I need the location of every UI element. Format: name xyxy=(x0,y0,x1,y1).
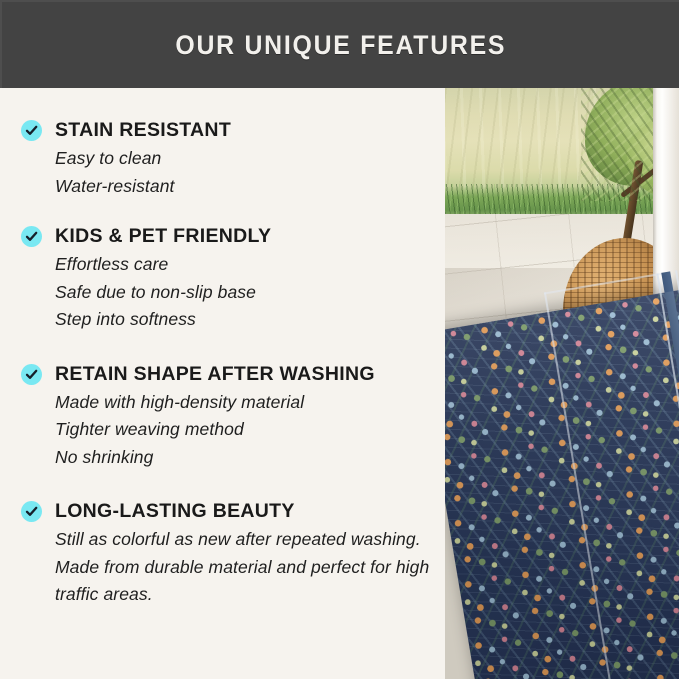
feature-item-long-lasting-beauty: LONG-LASTING BEAUTY Still as colorful as… xyxy=(0,499,437,609)
feature-detail-line: Made with high-density material xyxy=(55,389,437,417)
feature-detail-line: Still as colorful as new after repeated … xyxy=(55,526,433,609)
blue-floral-area-rug xyxy=(445,284,679,679)
feature-detail-line: No shrinking xyxy=(55,444,437,472)
feature-heading: RETAIN SHAPE AFTER WASHING xyxy=(55,362,437,386)
header-bar: OUR UNIQUE FEATURES xyxy=(0,0,679,88)
page-title: OUR UNIQUE FEATURES xyxy=(175,30,506,61)
feature-detail-lines: Still as colorful as new after repeated … xyxy=(55,526,437,609)
feature-detail-lines: Made with high-density material Tighter … xyxy=(55,389,437,472)
feature-detail-line: Effortless care xyxy=(55,251,437,279)
feature-heading: LONG-LASTING BEAUTY xyxy=(55,499,437,523)
feature-item-kids-and-pet-friendly: KIDS & PET FRIENDLY Effortless care Safe… xyxy=(0,224,437,334)
feature-detail-line: Tighter weaving method xyxy=(55,416,437,444)
check-circle-icon xyxy=(21,501,42,522)
features-list: STAIN RESISTANT Easy to clean Water-resi… xyxy=(0,88,445,679)
feature-heading: KIDS & PET FRIENDLY xyxy=(55,224,437,248)
feature-item-stain-resistant: STAIN RESISTANT Easy to clean Water-resi… xyxy=(0,118,437,200)
feature-detail-line: Safe due to non-slip base xyxy=(55,279,437,307)
feature-detail-line: Step into softness xyxy=(55,306,437,334)
rug-shading xyxy=(445,284,679,679)
feature-item-retain-shape-after-washing: RETAIN SHAPE AFTER WASHING Made with hig… xyxy=(0,362,437,472)
feature-detail-line: Water-resistant xyxy=(55,173,437,201)
feature-heading: STAIN RESISTANT xyxy=(55,118,437,142)
feature-detail-lines: Easy to clean Water-resistant xyxy=(55,145,437,200)
product-photo xyxy=(445,88,679,679)
unique-features-infographic: OUR UNIQUE FEATURES STAIN RESISTANT Easy… xyxy=(0,0,679,679)
feature-detail-line: Easy to clean xyxy=(55,145,437,173)
check-circle-icon xyxy=(21,120,42,141)
check-circle-icon xyxy=(21,364,42,385)
feature-detail-lines: Effortless care Safe due to non-slip bas… xyxy=(55,251,437,334)
check-circle-icon xyxy=(21,226,42,247)
